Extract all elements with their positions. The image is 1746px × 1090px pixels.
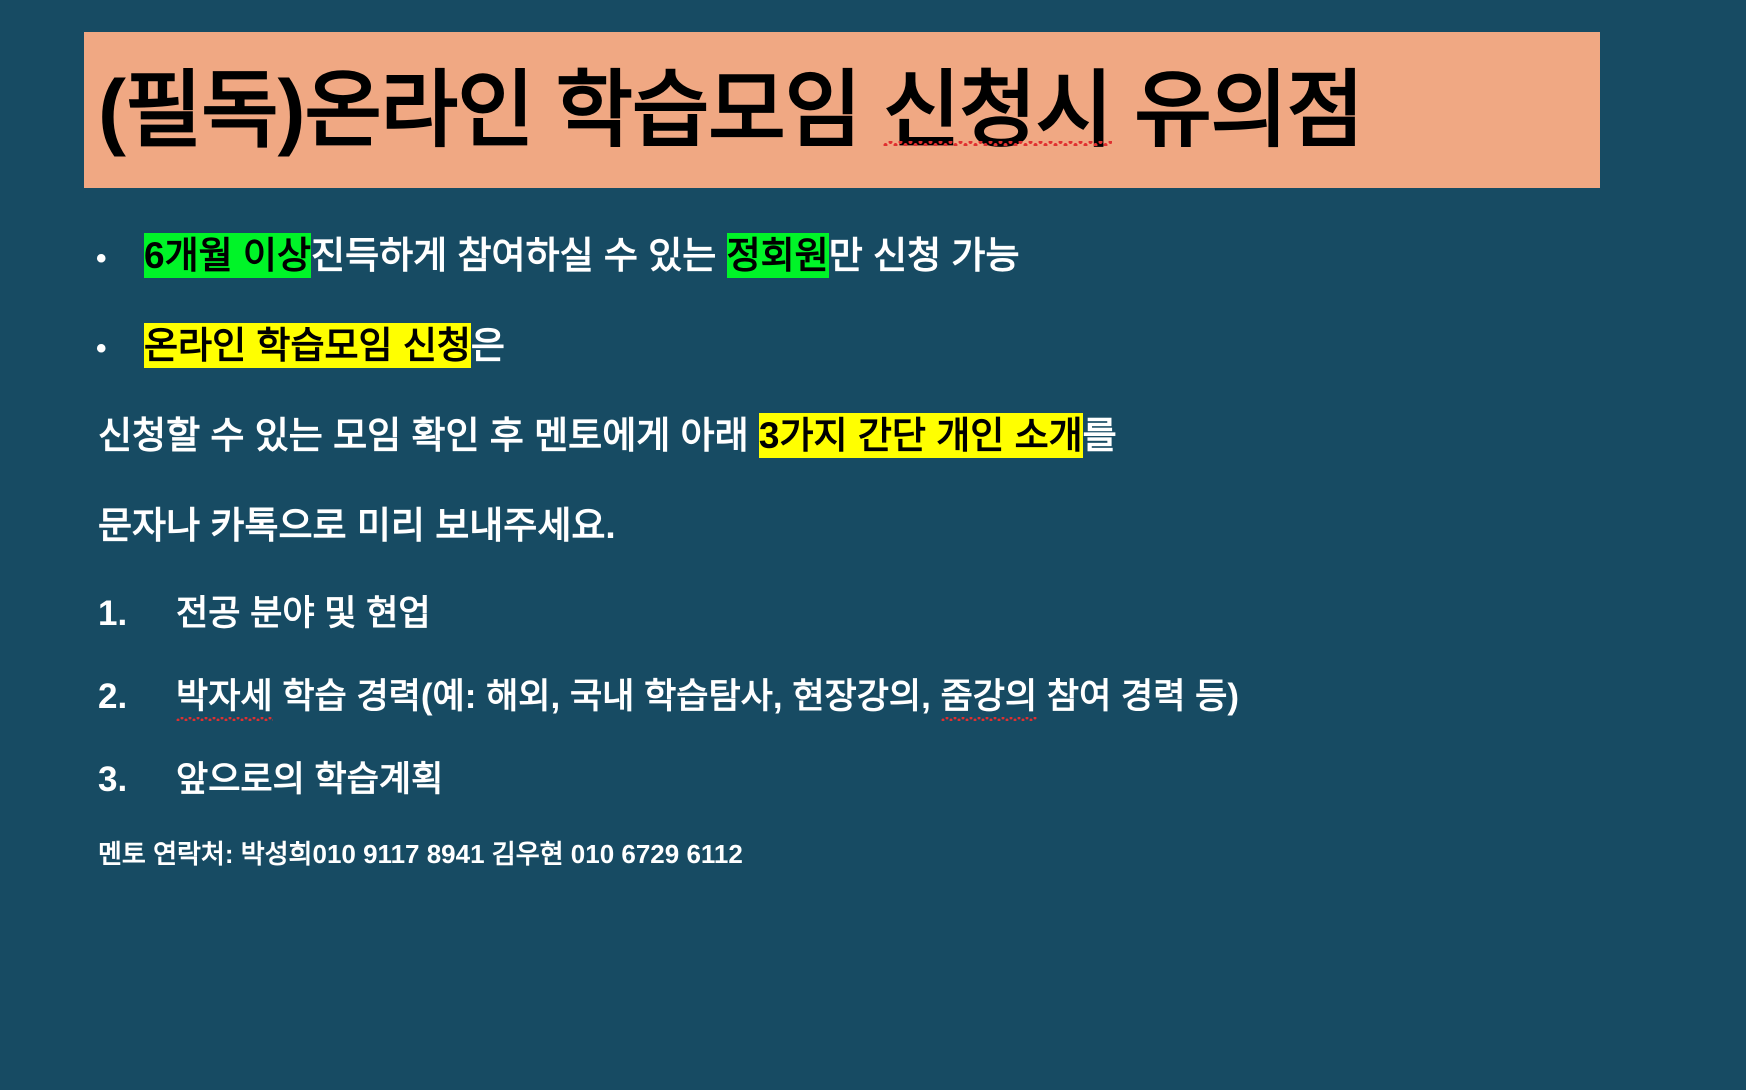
numbered-item-3: 3. 앞으로의 학습계획 xyxy=(96,751,1696,802)
title-part-1: (필독)온라인 학습모임 xyxy=(98,63,883,157)
misspelled-bakjase-text: 박자세 xyxy=(176,677,273,716)
misspelled-word-bakjase: 박자세 xyxy=(176,668,273,719)
list-number-3: 3. xyxy=(98,760,176,800)
misspelled-zoomgangui-text: 줌강의 xyxy=(941,677,1038,716)
contact-person-1-name: 박성희 xyxy=(241,839,313,869)
bullet-2-content: 온라인 학습모임 신청은 xyxy=(144,315,505,369)
list-number-1: 1. xyxy=(98,594,176,634)
contact-person-2-name: 김우현 xyxy=(492,839,571,869)
highlight-full-member: 정회원 xyxy=(727,233,829,278)
slide-body: 6개월 이상진득하게 참여하실 수 있는 정회원만 신청 가능 온라인 학습모임… xyxy=(96,225,1696,871)
mentor-contact-line: 멘토 연락처: 박성희010 9117 8941 김우현 010 6729 61… xyxy=(96,834,1696,871)
title-banner: (필독)온라인 학습모임 신청시 유의점 xyxy=(84,32,1600,188)
contact-person-2-phone: 010 6729 6112 xyxy=(571,839,743,869)
numbered-item-1-text: 전공 분야 및 현업 xyxy=(176,594,431,633)
misspelled-word-zoomgangui: 줌강의 xyxy=(941,668,1038,719)
bullet-1-content: 6개월 이상진득하게 참여하실 수 있는 정회원만 신청 가능 xyxy=(144,225,1019,279)
numbered-item-2-text-a: 학습 경력(예: 해외, 국내 학습탐사, 현장강의, xyxy=(273,677,941,716)
page-title: (필독)온라인 학습모임 신청시 유의점 xyxy=(98,68,1363,152)
contact-label: 멘토 연락처: xyxy=(98,839,241,869)
bullet-1-text-a: 진득하게 참여하실 수 있는 xyxy=(311,235,727,276)
numbered-item-2: 2. 박자세 학습 경력(예: 해외, 국내 학습탐사, 현장강의, 줌강의 참… xyxy=(96,668,1696,719)
highlight-6months: 6개월 이상 xyxy=(144,233,311,278)
bullet-item-2: 온라인 학습모임 신청은 xyxy=(96,315,1696,369)
list-number-2: 2. xyxy=(98,677,176,717)
title-part-2: 유의점 xyxy=(1112,63,1363,157)
numbered-item-2-text-b: 참여 경력 등) xyxy=(1037,677,1239,716)
bullet-item-1: 6개월 이상진득하게 참여하실 수 있는 정회원만 신청 가능 xyxy=(96,225,1696,279)
bullet-2-text-a: 은 xyxy=(471,325,505,366)
numbered-item-1: 1. 전공 분야 및 현업 xyxy=(96,585,1696,636)
numbered-item-2-content: 박자세 학습 경력(예: 해외, 국내 학습탐사, 현장강의, 줌강의 참여 경… xyxy=(176,668,1239,719)
title-misspelled-word: 신청시 xyxy=(883,68,1112,152)
numbered-item-3-text: 앞으로의 학습계획 xyxy=(176,760,443,799)
contact-separator xyxy=(485,839,492,869)
paragraph-1-text-b: 를 xyxy=(1083,415,1117,456)
slide-canvas: (필독)온라인 학습모임 신청시 유의점 6개월 이상진득하게 참여하실 수 있… xyxy=(0,0,1746,1090)
contact-person-1-phone: 010 9117 8941 xyxy=(312,839,484,869)
paragraph-instructions: 신청할 수 있는 모임 확인 후 멘토에게 아래 3가지 간단 개인 소개를 xyxy=(96,405,1696,459)
highlight-online-study-application: 온라인 학습모임 신청 xyxy=(144,323,471,368)
paragraph-2-text: 문자나 카톡으로 미리 보내주세요. xyxy=(98,505,616,546)
title-misspelled-text: 신청시 xyxy=(883,63,1112,157)
bullet-dot-icon xyxy=(96,334,144,364)
paragraph-1-text-a: 신청할 수 있는 모임 확인 후 멘토에게 아래 xyxy=(98,415,759,456)
bullet-1-text-b: 만 신청 가능 xyxy=(829,235,1020,276)
bullet-dot-icon xyxy=(96,244,144,274)
numbered-item-1-content: 전공 분야 및 현업 xyxy=(176,585,431,636)
highlight-three-intro-items: 3가지 간단 개인 소개 xyxy=(759,413,1083,458)
paragraph-send-method: 문자나 카톡으로 미리 보내주세요. xyxy=(96,495,1696,549)
numbered-item-3-content: 앞으로의 학습계획 xyxy=(176,751,443,802)
